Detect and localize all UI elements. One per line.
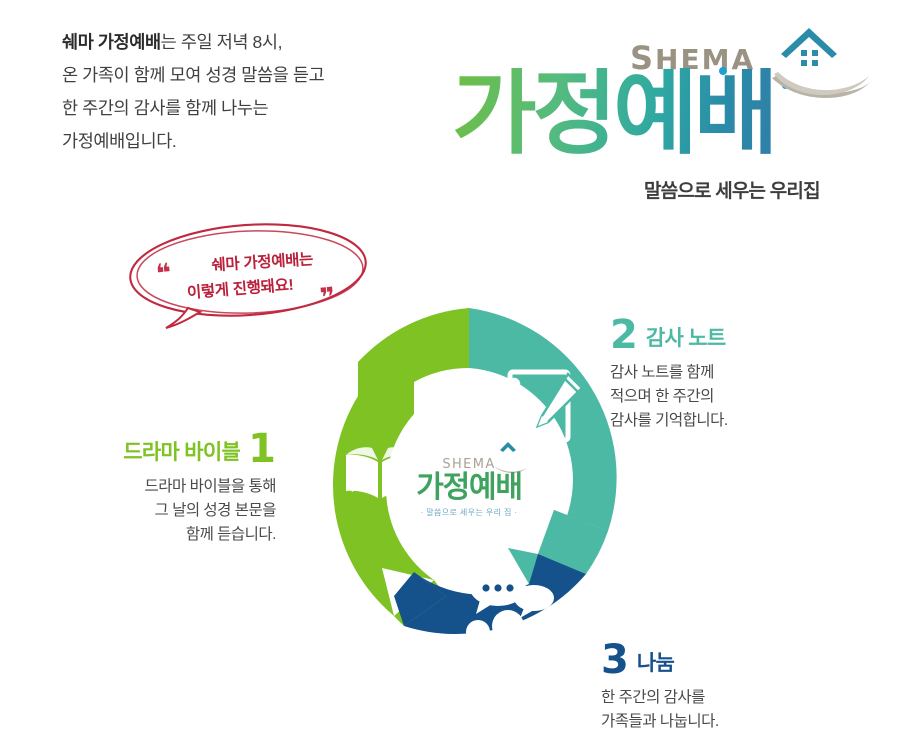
center-shema-text: SHEMA	[442, 457, 495, 472]
step-3-head: 3 나눔	[601, 643, 851, 677]
cycle-svg: SHEMA 가정예배 · 말씀으로 세우는 우리 집 ·	[286, 296, 652, 696]
step-1-title: 드라마 바이블	[123, 441, 240, 466]
brand-logo: SHEMA 가정예배 말씀으로 세우는 우리집	[452, 22, 872, 207]
step-caption-3: 3 나눔 한 주간의 감사를 가족들과 나눕니다.	[601, 643, 851, 734]
step-caption-1: 드라마 바이블 1 드라마 바이블을 통해 그 날의 성경 본문을 함께 듣습니…	[36, 432, 276, 547]
center-logo-tagline: · 말씀으로 세우는 우리 집 ·	[421, 507, 518, 517]
intro-line-4: 가정예배입니다.	[62, 125, 462, 158]
intro-lead: 쉐마 가정예배	[62, 32, 161, 52]
step-2-title: 감사 노트	[646, 327, 726, 352]
intro-line-1: 쉐마 가정예배는 주일 저녁 8시,	[62, 26, 462, 59]
step-1-number: 1	[248, 432, 276, 466]
step-3-description: 한 주간의 감사를 가족들과 나눕니다.	[601, 686, 851, 734]
intro-line-3: 한 주간의 감사를 함께 나누는	[62, 92, 462, 125]
cupped-hand-icon	[770, 60, 874, 102]
intro-line-2: 온 가족이 함께 모여 성경 말씀을 듣고	[62, 59, 462, 92]
quote-open-icon: ❝	[155, 259, 173, 286]
logo-title: 가정예배	[452, 68, 775, 160]
logo-tagline: 말씀으로 세우는 우리집	[644, 176, 820, 203]
step-3-title: 나눔	[637, 652, 674, 677]
step-2-description: 감사 노트를 함께 적으며 한 주간의 감사를 기억합니다.	[610, 361, 860, 433]
step-3-number: 3	[601, 643, 629, 677]
step-2-number: 2	[610, 318, 638, 352]
intro-rest: 는 주일 저녁 8시,	[161, 32, 282, 52]
intro-paragraph: 쉐마 가정예배는 주일 저녁 8시, 온 가족이 함께 모여 성경 말씀을 듣고…	[62, 26, 462, 158]
process-cycle-diagram: SHEMA 가정예배 · 말씀으로 세우는 우리 집 ·	[286, 296, 652, 696]
step-1-description: 드라마 바이블을 통해 그 날의 성경 본문을 함께 듣습니다.	[36, 475, 276, 547]
step-caption-2: 2 감사 노트 감사 노트를 함께 적으며 한 주간의 감사를 기억합니다.	[610, 318, 860, 433]
step-1-head: 드라마 바이블 1	[36, 432, 276, 466]
step-2-head: 2 감사 노트	[610, 318, 860, 352]
center-logo-title: 가정예배	[416, 471, 522, 504]
